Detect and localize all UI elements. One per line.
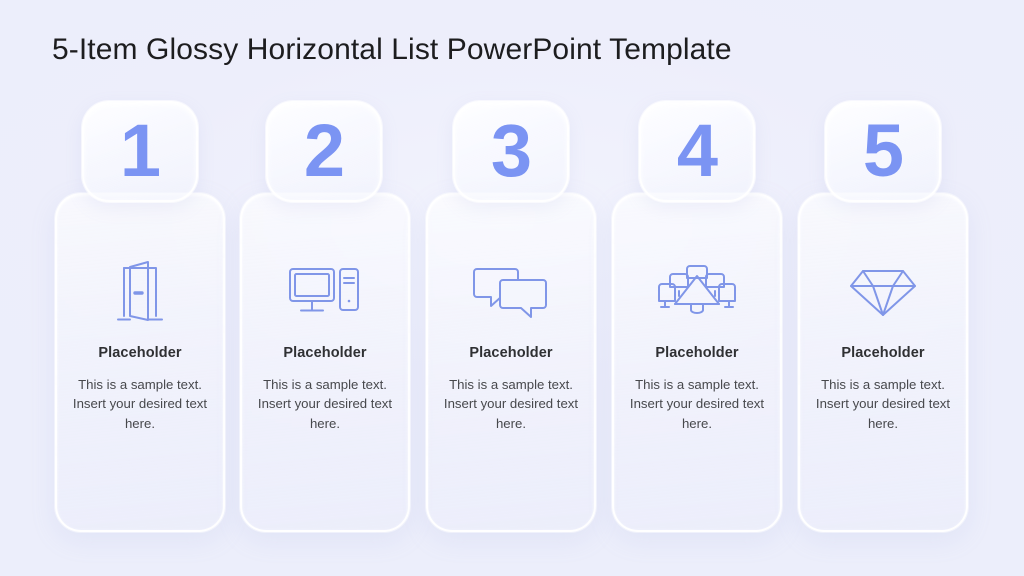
item-heading: Placeholder: [426, 345, 596, 361]
item-heading: Placeholder: [798, 345, 968, 361]
chat-bubbles-icon: [426, 252, 596, 330]
number-badge-label: 2: [304, 114, 344, 188]
number-badge[interactable]: 2: [266, 101, 382, 202]
item-body: This is a sample text. Insert your desir…: [426, 375, 596, 433]
diamond-icon: [798, 252, 968, 330]
number-badge[interactable]: 1: [82, 101, 198, 202]
list-items-container: 1 2 3 4 5: [0, 0, 1024, 576]
door-icon: [55, 252, 225, 330]
number-badge-label: 3: [491, 114, 531, 188]
list-item-text: Placeholder This is a sample text. Inser…: [612, 345, 782, 433]
item-body: This is a sample text. Insert your desir…: [612, 375, 782, 433]
list-item-text: Placeholder This is a sample text. Inser…: [55, 345, 225, 433]
number-badge[interactable]: 4: [639, 101, 755, 202]
number-badge-label: 5: [863, 114, 903, 188]
item-heading: Placeholder: [240, 345, 410, 361]
item-body: This is a sample text. Insert your desir…: [240, 375, 410, 433]
list-item-text: Placeholder This is a sample text. Inser…: [798, 345, 968, 433]
desktop-computer-icon: [240, 252, 410, 330]
conference-table-icon: [612, 252, 782, 330]
number-badge-label: 4: [677, 114, 717, 188]
item-heading: Placeholder: [55, 345, 225, 361]
number-badge-label: 1: [120, 114, 160, 188]
item-body: This is a sample text. Insert your desir…: [55, 375, 225, 433]
list-item-text: Placeholder This is a sample text. Inser…: [240, 345, 410, 433]
number-badge[interactable]: 3: [453, 101, 569, 202]
number-badge[interactable]: 5: [825, 101, 941, 202]
list-item-text: Placeholder This is a sample text. Inser…: [426, 345, 596, 433]
slide-canvas: 5-Item Glossy Horizontal List PowerPoint…: [0, 0, 1024, 576]
item-heading: Placeholder: [612, 345, 782, 361]
item-body: This is a sample text. Insert your desir…: [798, 375, 968, 433]
